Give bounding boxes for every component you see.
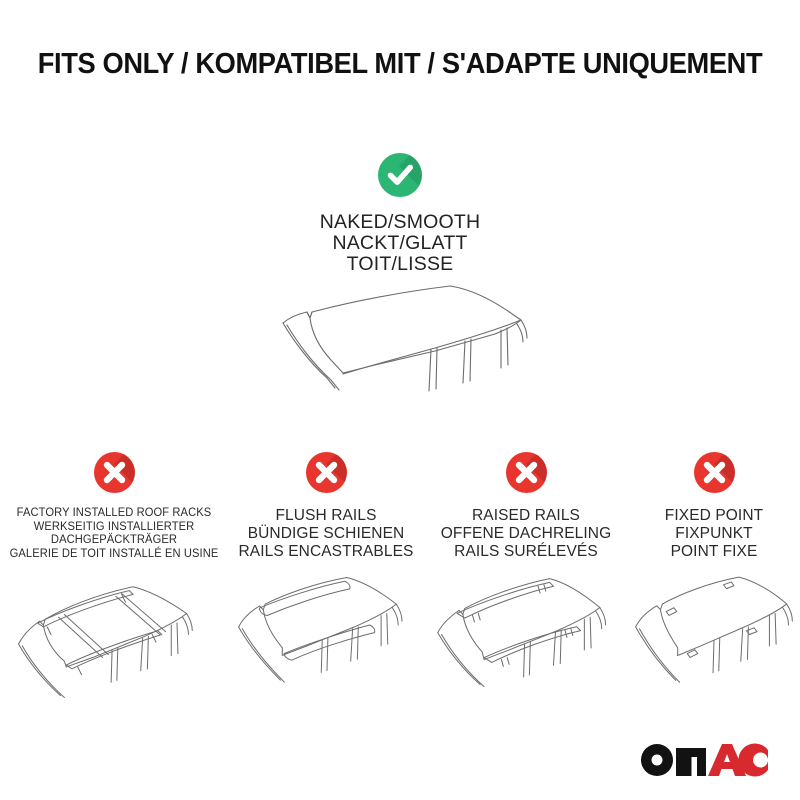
factory-rack-roof-illustration: [0, 567, 228, 707]
check-mark-glyph: [378, 153, 422, 197]
roof-type-label: FLUSH RAILS BÜNDIGE SCHIENEN RAILS ENCAS…: [228, 507, 424, 561]
roof-type-fixed-point: FIXED POINT FIXPUNKT POINT FIXE: [628, 452, 800, 707]
roof-type-label-de: OFFENE DACHRELING: [424, 525, 628, 543]
logo-letter-o: [641, 744, 673, 776]
roof-type-label-de-2: DACHGEPÄCKTRÄGER: [3, 534, 224, 548]
roof-type-label: RAISED RAILS OFFENE DACHRELING RAILS SUR…: [424, 507, 628, 561]
approved-roof-type-block: NAKED/SMOOTH NACKT/GLATT TOIT/LISSE: [0, 153, 800, 275]
approved-label-fr: TOIT/LISSE: [0, 254, 800, 275]
flush-rails-roof-illustration: [228, 567, 424, 707]
unsupported-roof-types-row: FACTORY INSTALLED ROOF RACKS WERKSEITIG …: [0, 452, 800, 707]
roof-type-label-de: BÜNDIGE SCHIENEN: [228, 525, 424, 543]
x-mark-glyph: [506, 452, 547, 493]
roof-type-flush-rails: FLUSH RAILS BÜNDIGE SCHIENEN RAILS ENCAS…: [228, 452, 424, 707]
logo-letter-m: [676, 748, 706, 776]
roof-type-label-en: FACTORY INSTALLED ROOF RACKS: [3, 507, 224, 521]
roof-type-label-fr: POINT FIXE: [628, 543, 800, 561]
x-mark-glyph: [694, 452, 735, 493]
approved-label-en: NAKED/SMOOTH: [0, 212, 800, 233]
roof-type-factory-installed-roof-racks: FACTORY INSTALLED ROOF RACKS WERKSEITIG …: [0, 452, 228, 707]
roof-type-label-en: RAISED RAILS: [424, 507, 628, 525]
omac-logo: [640, 742, 770, 778]
x-circle-icon: [506, 452, 547, 493]
x-mark-glyph: [94, 452, 135, 493]
roof-type-label-fr: RAILS ENCASTRABLES: [228, 543, 424, 561]
fixed-point-roof-illustration: [628, 567, 800, 707]
roof-type-label-fr: GALERIE DE TOIT INSTALLÉ EN USINE: [3, 548, 224, 562]
raised-rails-roof-illustration: [424, 567, 628, 707]
page-title: FITS ONLY / KOMPATIBEL MIT / S'ADAPTE UN…: [24, 48, 776, 81]
x-circle-icon: [94, 452, 135, 493]
roof-type-raised-rails: RAISED RAILS OFFENE DACHRELING RAILS SUR…: [424, 452, 628, 707]
roof-type-label-fr: RAILS SURÉLEVÉS: [424, 543, 628, 561]
approved-roof-type-label: NAKED/SMOOTH NACKT/GLATT TOIT/LISSE: [0, 212, 800, 275]
approved-label-de: NACKT/GLATT: [0, 233, 800, 254]
roof-type-label-en: FIXED POINT: [628, 507, 800, 525]
x-circle-icon: [694, 452, 735, 493]
omac-logo-mark: [640, 742, 770, 778]
check-circle-icon: [378, 153, 422, 197]
roof-type-label-en: FLUSH RAILS: [228, 507, 424, 525]
roof-type-label-de-1: WERKSEITIG INSTALLIERTER: [3, 521, 224, 535]
roof-type-label: FIXED POINT FIXPUNKT POINT FIXE: [628, 507, 800, 561]
roof-type-label-de: FIXPUNKT: [628, 525, 800, 543]
naked-smooth-roof-illustration: [265, 278, 565, 433]
roof-type-label: FACTORY INSTALLED ROOF RACKS WERKSEITIG …: [3, 507, 224, 561]
x-mark-glyph: [306, 452, 347, 493]
x-circle-icon: [306, 452, 347, 493]
